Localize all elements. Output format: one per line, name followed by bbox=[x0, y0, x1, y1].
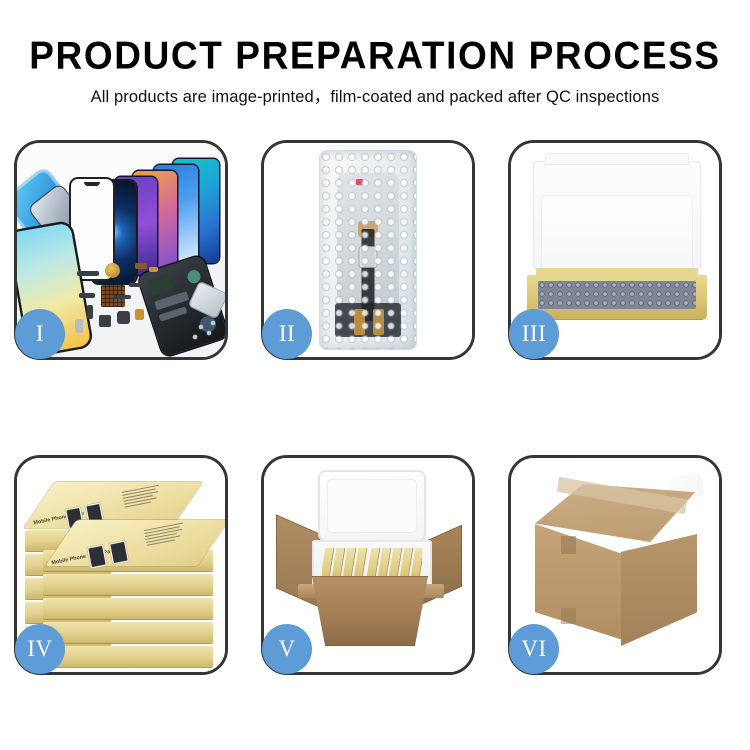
speaker-part-icon bbox=[105, 263, 120, 278]
red-label-icon bbox=[356, 179, 363, 185]
page-header: PRODUCT PREPARATION PROCESS All products… bbox=[0, 0, 750, 108]
white-foam-sheet-icon bbox=[541, 195, 693, 269]
step-panel-3: III bbox=[508, 140, 722, 360]
button-part-icon bbox=[87, 305, 93, 319]
camera-part-icon bbox=[99, 315, 111, 327]
step-badge-6: VI bbox=[509, 624, 559, 674]
bubble-wrap-bag-icon bbox=[320, 151, 416, 349]
carton-body bbox=[304, 576, 436, 646]
page-subtitle: All products are image-printed，film-coat… bbox=[0, 86, 750, 108]
step-badge-2: II bbox=[262, 309, 312, 359]
step-panel-1: I bbox=[14, 140, 228, 360]
step-panel-2: II bbox=[261, 140, 475, 360]
grey-bubble-wrap-icon bbox=[538, 281, 696, 309]
sim-tray-part-icon bbox=[75, 319, 83, 333]
vibrator-part-icon bbox=[117, 311, 130, 324]
step-badge-5: V bbox=[262, 624, 312, 674]
ribbon-part-icon bbox=[129, 283, 143, 287]
stacked-box bbox=[43, 598, 213, 619]
screw-icon bbox=[211, 321, 215, 325]
step-badge-4: IV bbox=[15, 624, 65, 674]
driver-ic-icon bbox=[360, 247, 377, 267]
carton-tab-lower bbox=[561, 608, 576, 624]
screw-icon bbox=[199, 325, 203, 329]
process-step-grid: I II III bbox=[14, 140, 736, 675]
flex-cable-part-icon bbox=[77, 271, 99, 276]
foam-lid-icon bbox=[318, 470, 426, 542]
step-badge-3: III bbox=[509, 309, 559, 359]
step-panel-4: Mobile Phone Spare Parts Mobile Phone Sp… bbox=[14, 455, 228, 675]
carton-tab-upper bbox=[561, 536, 576, 554]
copper-part-icon bbox=[135, 263, 147, 269]
step-panel-6: VI bbox=[508, 455, 722, 675]
gold-contact-part-icon bbox=[149, 267, 158, 272]
stacked-box bbox=[43, 646, 213, 667]
connector-part-icon bbox=[79, 293, 95, 298]
antenna-part-icon bbox=[113, 295, 131, 299]
gold-tab-left-icon bbox=[354, 309, 365, 335]
bottom-connector-icon bbox=[335, 303, 401, 337]
step-panel-5: V bbox=[261, 455, 475, 675]
screw-icon bbox=[193, 335, 197, 339]
step-badge-1: I bbox=[15, 309, 65, 359]
gold-tab-right-icon bbox=[373, 309, 384, 335]
screw-icon bbox=[207, 331, 211, 335]
page-title: PRODUCT PREPARATION PROCESS bbox=[0, 33, 750, 80]
shield-part-icon bbox=[135, 309, 144, 320]
stacked-box bbox=[43, 622, 213, 643]
stacked-box bbox=[43, 574, 213, 595]
